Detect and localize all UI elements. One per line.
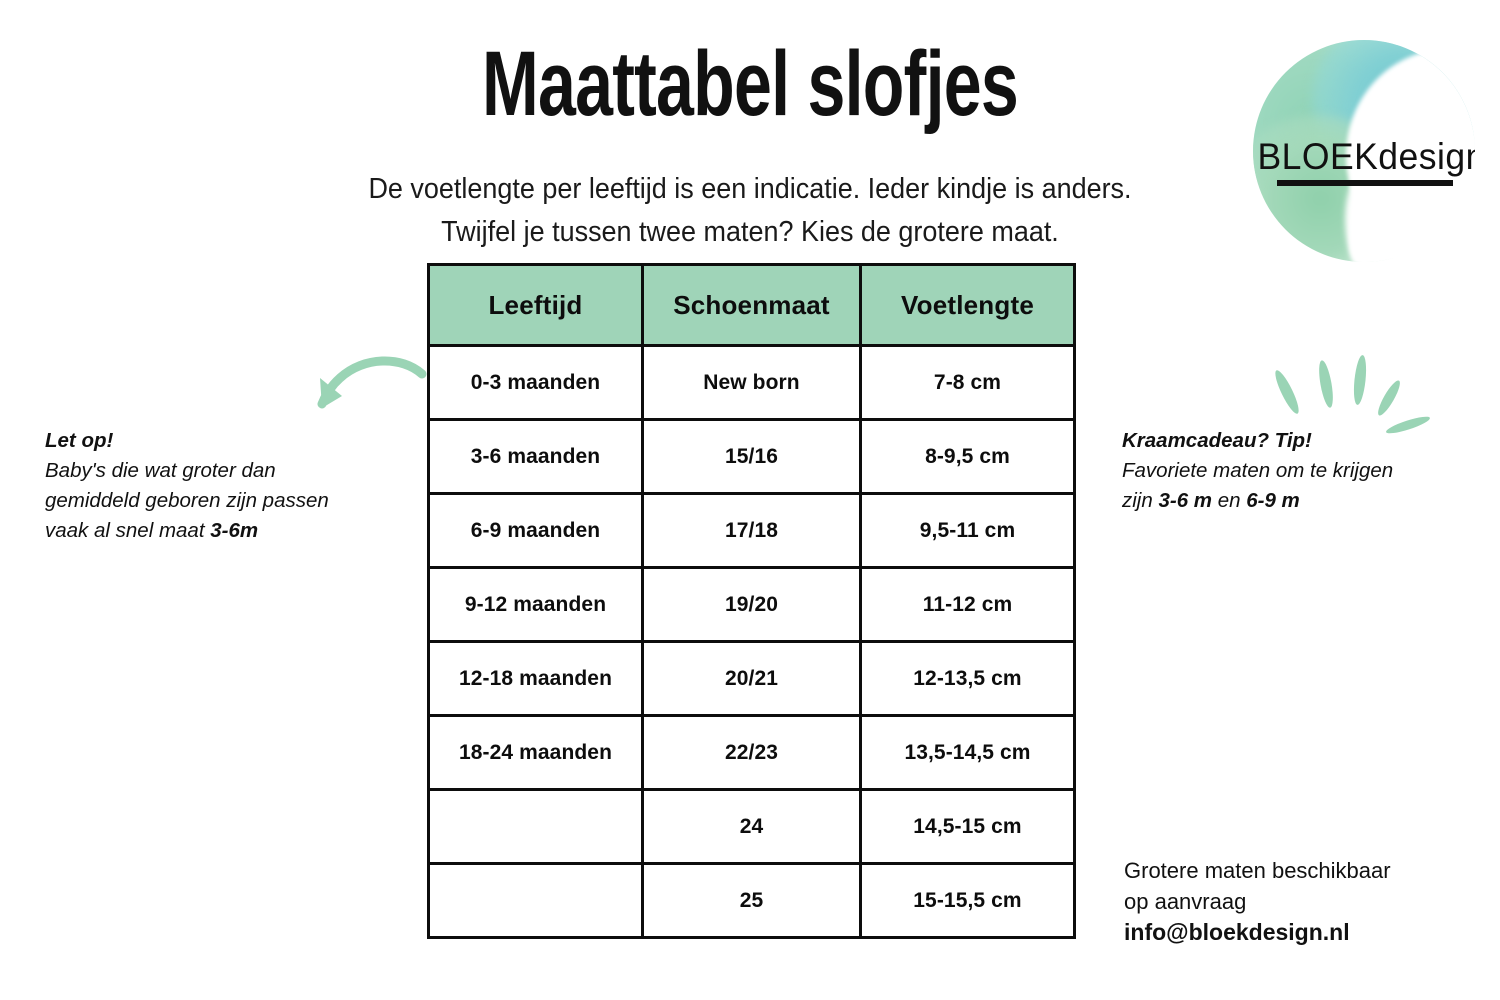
subtitle-line-1: De voetlengte per leeftijd is een indica… bbox=[285, 168, 1215, 211]
contact-block: Grotere maten beschikbaar op aanvraag in… bbox=[1124, 855, 1474, 948]
note-right-title: Kraamcadeau? Tip! bbox=[1122, 426, 1482, 456]
cell-schoenmaat: 19/20 bbox=[643, 568, 861, 642]
page-subtitle: De voetlengte per leeftijd is een indica… bbox=[285, 168, 1215, 254]
cell-schoenmaat: 25 bbox=[643, 864, 861, 938]
note-right-size-emphasis-2: 6-9 m bbox=[1246, 489, 1300, 512]
cell-leeftijd bbox=[429, 790, 643, 864]
note-left-line-3-text: vaak al snel maat bbox=[45, 519, 210, 542]
brand-logo: BLOEKdesign bbox=[1253, 40, 1475, 262]
cell-leeftijd: 12-18 maanden bbox=[429, 642, 643, 716]
table-row: 3-6 maanden 15/16 8-9,5 cm bbox=[429, 420, 1075, 494]
note-right-line-2: zijn 3-6 m en 6-9 m bbox=[1122, 486, 1482, 516]
note-left-line-3: vaak al snel maat 3-6m bbox=[45, 516, 400, 546]
table-header-row: Leeftijd Schoenmaat Voetlengte bbox=[429, 265, 1075, 346]
note-left-line-1: Baby's die wat groter dan bbox=[45, 456, 400, 486]
note-left-size-emphasis: 3-6m bbox=[210, 519, 258, 542]
note-kraamcadeau-tip: Kraamcadeau? Tip! Favoriete maten om te … bbox=[1122, 426, 1482, 516]
cell-voetlengte: 14,5-15 cm bbox=[861, 790, 1075, 864]
note-left-line-2: gemiddeld geboren zijn passen bbox=[45, 486, 400, 516]
size-chart-table: Leeftijd Schoenmaat Voetlengte 0-3 maand… bbox=[427, 263, 1076, 939]
cell-leeftijd: 0-3 maanden bbox=[429, 346, 643, 420]
column-header-schoenmaat: Schoenmaat bbox=[643, 265, 861, 346]
note-left-title: Let op! bbox=[45, 426, 400, 456]
contact-email[interactable]: info@bloekdesign.nl bbox=[1124, 917, 1474, 948]
table-row: 18-24 maanden 22/23 13,5-14,5 cm bbox=[429, 716, 1075, 790]
table-row: 6-9 maanden 17/18 9,5-11 cm bbox=[429, 494, 1075, 568]
cell-voetlengte: 12-13,5 cm bbox=[861, 642, 1075, 716]
logo-wordmark: BLOEKdesign bbox=[1257, 136, 1470, 178]
cell-leeftijd bbox=[429, 864, 643, 938]
cell-schoenmaat: 24 bbox=[643, 790, 861, 864]
table-row: 25 15-15,5 cm bbox=[429, 864, 1075, 938]
column-header-leeftijd: Leeftijd bbox=[429, 265, 643, 346]
table-row: 0-3 maanden New born 7-8 cm bbox=[429, 346, 1075, 420]
cell-leeftijd: 3-6 maanden bbox=[429, 420, 643, 494]
cell-leeftijd: 18-24 maanden bbox=[429, 716, 643, 790]
cell-voetlengte: 8-9,5 cm bbox=[861, 420, 1075, 494]
note-let-op: Let op! Baby's die wat groter dan gemidd… bbox=[45, 426, 400, 546]
cell-voetlengte: 11-12 cm bbox=[861, 568, 1075, 642]
cell-voetlengte: 15-15,5 cm bbox=[861, 864, 1075, 938]
cell-schoenmaat: 15/16 bbox=[643, 420, 861, 494]
curved-arrow-icon bbox=[298, 352, 428, 424]
table-row: 24 14,5-15 cm bbox=[429, 790, 1075, 864]
cell-leeftijd: 9-12 maanden bbox=[429, 568, 643, 642]
page-title: Maattabel slofjes bbox=[195, 38, 1305, 130]
cell-schoenmaat: 17/18 bbox=[643, 494, 861, 568]
column-header-voetlengte: Voetlengte bbox=[861, 265, 1075, 346]
note-right-size-emphasis-1: 3-6 m bbox=[1158, 489, 1212, 512]
contact-line-2: op aanvraag bbox=[1124, 886, 1474, 917]
table-row: 9-12 maanden 19/20 11-12 cm bbox=[429, 568, 1075, 642]
logo-underline bbox=[1277, 180, 1453, 186]
cell-leeftijd: 6-9 maanden bbox=[429, 494, 643, 568]
note-right-line-2-pre: zijn bbox=[1122, 489, 1158, 512]
cell-voetlengte: 7-8 cm bbox=[861, 346, 1075, 420]
cell-schoenmaat: 20/21 bbox=[643, 642, 861, 716]
note-right-line-1: Favoriete maten om te krijgen bbox=[1122, 456, 1482, 486]
cell-schoenmaat: New born bbox=[643, 346, 861, 420]
cell-schoenmaat: 22/23 bbox=[643, 716, 861, 790]
note-right-line-2-mid: en bbox=[1212, 489, 1246, 512]
table-row: 12-18 maanden 20/21 12-13,5 cm bbox=[429, 642, 1075, 716]
cell-voetlengte: 9,5-11 cm bbox=[861, 494, 1075, 568]
cell-voetlengte: 13,5-14,5 cm bbox=[861, 716, 1075, 790]
subtitle-line-2: Twijfel je tussen twee maten? Kies de gr… bbox=[285, 211, 1215, 254]
contact-line-1: Grotere maten beschikbaar bbox=[1124, 855, 1474, 886]
